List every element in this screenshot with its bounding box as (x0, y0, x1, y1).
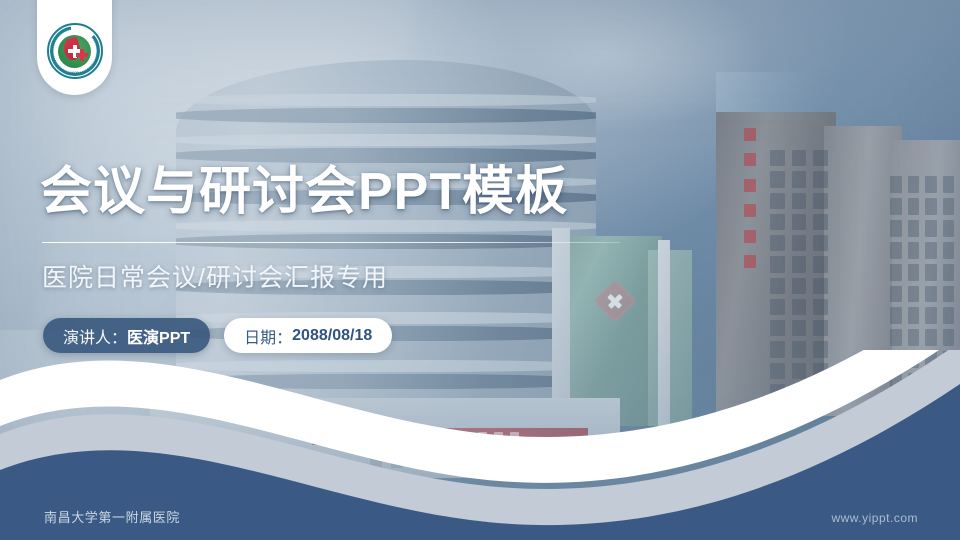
presenter-pill[interactable]: 演讲人：医演PPT (43, 318, 210, 353)
title-divider (42, 242, 620, 243)
date-value: 2088/08/18 (292, 327, 372, 345)
date-label: 日期： (244, 324, 292, 348)
date-pill[interactable]: 日期：2088/08/18 (224, 318, 392, 353)
footer-organization: 南昌大学第一附属医院 (44, 507, 180, 526)
emblem-inner-disc (58, 35, 91, 68)
meta-pill-row: 演讲人：医演PPT 日期：2088/08/18 (43, 318, 392, 353)
hospital-emblem-icon: 1939 (47, 23, 103, 79)
presenter-value: 医演PPT (127, 324, 190, 348)
page-subtitle: 医院日常会议/研讨会汇报专用 (42, 258, 388, 294)
emblem-red-cross-icon (76, 49, 88, 61)
presentation-slide: 1939 会议与研讨会PPT模板 医院日常会议/研讨会汇报专用 演讲人：医演PP… (0, 0, 960, 540)
page-title: 会议与研讨会PPT模板 (40, 164, 568, 220)
emblem-year: 1939 (49, 71, 101, 75)
presenter-label: 演讲人： (63, 324, 127, 348)
footer-website[interactable]: www.yippt.com (831, 511, 918, 525)
hospital-logo-badge: 1939 (37, 0, 112, 95)
